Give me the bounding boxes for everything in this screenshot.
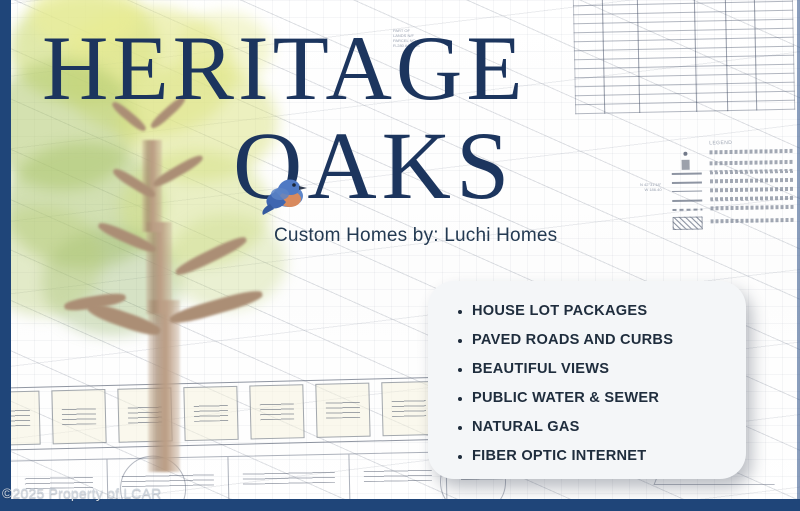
title-block: HERITAGE OAKS Custom Homes by: Luchi Hom… bbox=[0, 0, 800, 270]
feature-item: HOUSE LOT PACKAGES bbox=[458, 297, 746, 326]
page-title-heritage: HERITAGE bbox=[42, 22, 527, 114]
feature-item: BEAUTIFUL VIEWS bbox=[458, 355, 746, 384]
feature-item: FIBER OPTIC INTERNET bbox=[458, 442, 746, 471]
feature-item: PAVED ROADS AND CURBS bbox=[458, 326, 746, 355]
features-card: HOUSE LOT PACKAGES PAVED ROADS AND CURBS… bbox=[428, 281, 746, 479]
subtitle: Custom Homes by: Luchi Homes bbox=[274, 225, 557, 247]
copyright-watermark: ©2025 Property of LCAR bbox=[2, 485, 161, 501]
frame-bar-left bbox=[0, 0, 11, 511]
feature-item: PUBLIC WATER & SEWER bbox=[458, 384, 746, 413]
features-list: HOUSE LOT PACKAGES PAVED ROADS AND CURBS… bbox=[428, 281, 746, 471]
feature-item: NATURAL GAS bbox=[458, 413, 746, 442]
bluebird-icon bbox=[258, 166, 312, 216]
property-marketing-poster: LEGEND PART OF LANDS N/F PARCEL NO. 41 R… bbox=[0, 0, 800, 511]
